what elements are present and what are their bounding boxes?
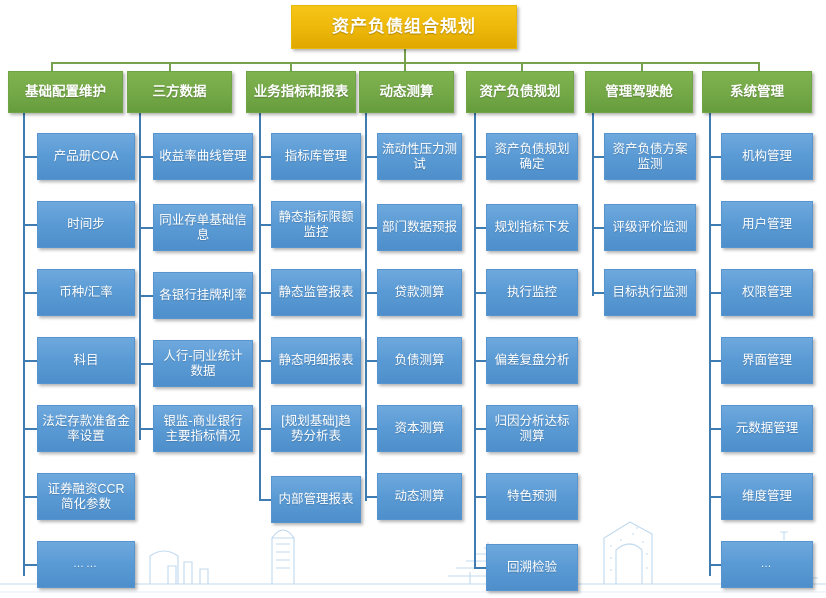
- leaf-5-4[interactable]: 偏差复盘分析: [486, 337, 578, 384]
- leaf-3-1[interactable]: 指标库管理: [271, 133, 361, 180]
- leaf-1-5[interactable]: 法定存款准备金率设置: [37, 405, 135, 452]
- leaf-4-2[interactable]: 部门数据预报: [377, 204, 462, 251]
- column-header-3[interactable]: 业务指标和报表: [246, 71, 356, 113]
- leaf-6-3[interactable]: 目标执行监测: [604, 269, 696, 316]
- root-node[interactable]: 资产负债组合规划: [291, 5, 517, 49]
- column-header-2[interactable]: 三方数据: [127, 71, 232, 113]
- leaf-1-6[interactable]: 证券融资CCR简化参数: [37, 473, 135, 520]
- leaf-3-6[interactable]: 内部管理报表: [271, 476, 361, 523]
- leaf-4-3[interactable]: 贷款测算: [377, 269, 462, 316]
- leaf-5-2[interactable]: 规划指标下发: [486, 204, 578, 251]
- connector-stub-1-7: [23, 564, 38, 566]
- connector-stub-1-5: [23, 428, 38, 430]
- connector-spine-5: [474, 113, 476, 568]
- leaf-2-3[interactable]: 各银行挂牌利率: [153, 272, 253, 319]
- leaf-1-2[interactable]: 时间步: [37, 201, 135, 248]
- connector-spine-4: [365, 113, 367, 501]
- connector-spine-6: [592, 113, 594, 296]
- connector-head-drop-3: [290, 62, 292, 71]
- connector-stub-2-2: [139, 227, 154, 229]
- leaf-3-2[interactable]: 静态指标限额监控: [271, 201, 361, 248]
- connector-stub-1-4: [23, 360, 38, 362]
- leaf-7-7[interactable]: …: [721, 541, 813, 588]
- leaf-5-1[interactable]: 资产负债规划确定: [486, 133, 578, 180]
- connector-stub-2-5: [139, 428, 154, 430]
- diagram-canvas: 资产负债组合规划 基础配置维护 三方数据 业务指标和报表 动态测算 资产负债规划…: [0, 0, 826, 598]
- leaf-7-1[interactable]: 机构管理: [721, 133, 813, 180]
- connector-stub-1-2: [23, 224, 38, 226]
- leaf-2-2[interactable]: 同业存单基础信息: [153, 204, 253, 251]
- leaf-2-5[interactable]: 银监-商业银行主要指标情况: [153, 405, 253, 452]
- leaf-4-4[interactable]: 负债测算: [377, 337, 462, 384]
- column-header-1[interactable]: 基础配置维护: [8, 71, 123, 113]
- connector-head-drop-5: [521, 62, 523, 71]
- connector-root-stem: [404, 49, 406, 63]
- leaf-6-2[interactable]: 评级评价监测: [604, 204, 696, 251]
- leaf-4-1[interactable]: 流动性压力测试: [377, 133, 462, 180]
- leaf-7-4[interactable]: 界面管理: [721, 337, 813, 384]
- leaf-1-4[interactable]: 科目: [37, 337, 135, 384]
- column-header-7[interactable]: 系统管理: [702, 71, 812, 113]
- connector-stub-1-3: [23, 292, 38, 294]
- connector-stub-2-4: [139, 363, 154, 365]
- connector-spine-3: [259, 113, 261, 501]
- leaf-6-1[interactable]: 资产负债方案监测: [604, 133, 696, 180]
- connector-head-drop-1: [51, 62, 53, 71]
- leaf-1-1[interactable]: 产品册COA: [37, 133, 135, 180]
- leaf-7-6[interactable]: 维度管理: [721, 473, 813, 520]
- leaf-3-5[interactable]: [规划基础]趋势分析表: [271, 405, 361, 452]
- leaf-1-7[interactable]: ……: [37, 541, 135, 588]
- connector-head-drop-6: [641, 62, 643, 71]
- connector-head-drop-2: [169, 62, 171, 71]
- connector-spine-2: [139, 113, 141, 440]
- leaf-7-3[interactable]: 权限管理: [721, 269, 813, 316]
- leaf-2-1[interactable]: 收益率曲线管理: [153, 133, 253, 180]
- connector-spine-7: [709, 113, 711, 576]
- leaf-3-4[interactable]: 静态明细报表: [271, 337, 361, 384]
- leaf-4-5[interactable]: 资本测算: [377, 405, 462, 452]
- leaf-3-3[interactable]: 静态监管报表: [271, 269, 361, 316]
- leaf-7-5[interactable]: 元数据管理: [721, 405, 813, 452]
- connector-head-drop-4: [404, 62, 406, 71]
- leaf-1-3[interactable]: 币种/汇率: [37, 269, 135, 316]
- column-header-5[interactable]: 资产负债规划: [466, 71, 574, 113]
- connector-spine-1: [23, 113, 25, 576]
- column-header-4[interactable]: 动态测算: [359, 71, 454, 113]
- leaf-5-3[interactable]: 执行监控: [486, 269, 578, 316]
- leaf-4-6[interactable]: 动态测算: [377, 473, 462, 520]
- column-header-6[interactable]: 管理驾驶舱: [585, 71, 693, 113]
- connector-stub-2-3: [139, 295, 154, 297]
- leaf-2-4[interactable]: 人行-同业统计数据: [153, 340, 253, 387]
- leaf-5-6[interactable]: 特色预测: [486, 473, 578, 520]
- connector-stub-1-1: [23, 156, 38, 158]
- leaf-7-2[interactable]: 用户管理: [721, 201, 813, 248]
- connector-stub-1-6: [23, 496, 38, 498]
- leaf-5-7[interactable]: 回溯检验: [486, 544, 578, 591]
- connector-head-drop-7: [758, 62, 760, 71]
- leaf-5-5[interactable]: 归因分析达标测算: [486, 405, 578, 452]
- connector-stub-2-1: [139, 156, 154, 158]
